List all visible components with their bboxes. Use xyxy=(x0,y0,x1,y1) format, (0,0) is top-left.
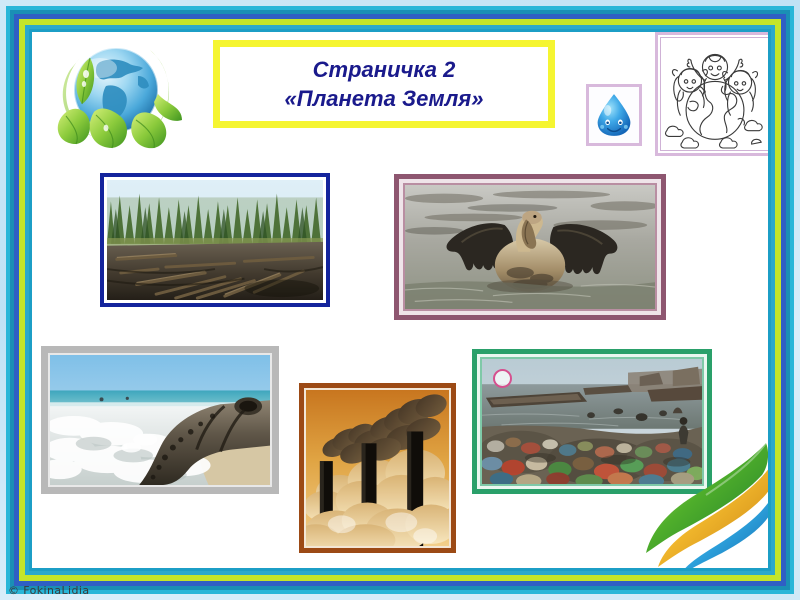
photo-factory-smokestacks[interactable] xyxy=(299,383,456,553)
kids-globe-lineart-card xyxy=(655,32,768,156)
page-title-line-1: Страничка 2 xyxy=(313,55,456,84)
corner-ribbon-decoration xyxy=(644,441,768,568)
photo-sewage-pipe[interactable] xyxy=(41,346,279,494)
page-title-line-2: «Планета Земля» xyxy=(285,84,484,113)
water-drop-icon xyxy=(594,92,634,138)
author-watermark: © FokinaLidia xyxy=(8,584,89,597)
source-logo-icon xyxy=(493,369,512,388)
photo-deforestation[interactable] xyxy=(100,173,330,307)
three-children-globe-icon xyxy=(661,38,768,150)
presentation-slide: Страничка 2 «Планета Земля» xyxy=(0,0,800,600)
slide-title-box: Страничка 2 «Планета Земля» xyxy=(213,40,555,128)
earth-globe-leaves-icon xyxy=(46,32,186,157)
water-drop-card xyxy=(586,84,642,146)
photo-oiled-pelican[interactable] xyxy=(394,174,666,320)
slide-content-area: Страничка 2 «Планета Земля» xyxy=(32,32,768,568)
